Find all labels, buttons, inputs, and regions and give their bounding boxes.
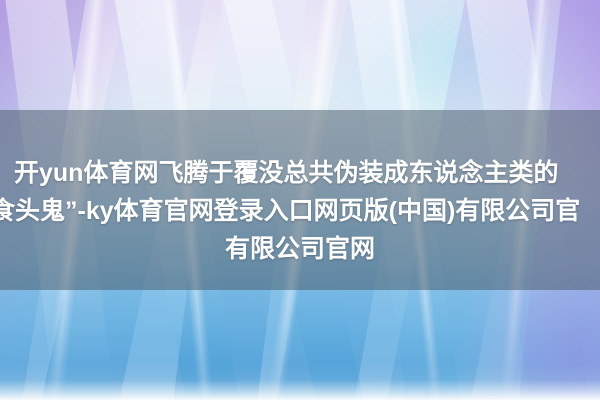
banner-image: 开yun体育网飞腾于覆没总共伪装成东说念主类的 食头鬼”-ky体育官网登录入口网… (0, 0, 600, 400)
caption-text-block: 开yun体育网飞腾于覆没总共伪装成东说念主类的 食头鬼”-ky体育官网登录入口网… (0, 110, 600, 290)
caption-line-3: 有限公司官网 (0, 230, 600, 268)
caption-line-2: 食头鬼”-ky体育官网登录入口网页版(中国)有限公司官 (0, 192, 600, 230)
caption-line-1: 开yun体育网飞腾于覆没总共伪装成东说念主类的 (14, 154, 600, 192)
